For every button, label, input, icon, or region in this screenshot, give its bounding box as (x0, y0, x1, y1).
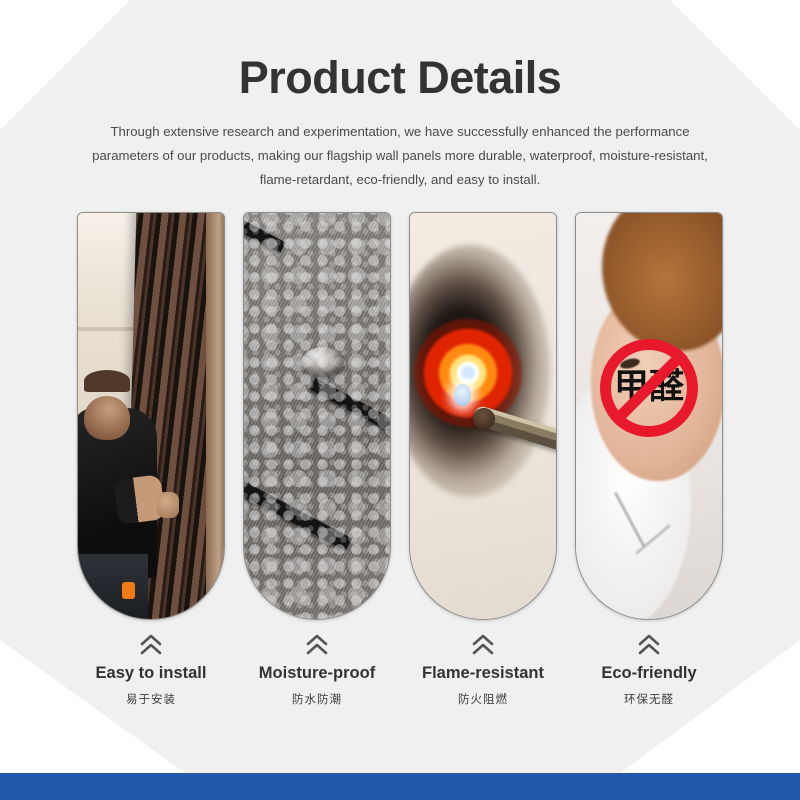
feature-image-easy-to-install (77, 212, 225, 620)
no-formaldehyde-icon: 甲醛 (600, 339, 698, 437)
page-header: Product Details Through extensive resear… (0, 0, 800, 192)
feature-label-cn: 防火阻燃 (409, 691, 557, 707)
chevron-double-up-icon (470, 634, 496, 656)
feature-image-flame-resistant (409, 212, 557, 620)
feature-item-easy-to-install[interactable]: Easy to install 易于安装 (77, 212, 225, 707)
chevron-double-up-icon (304, 634, 330, 656)
bottom-accent-band (0, 773, 800, 800)
feature-label-en: Eco-friendly (575, 664, 723, 683)
chevron-double-up-icon (636, 634, 662, 656)
feature-label-en: Moisture-proof (243, 664, 391, 683)
feature-label-en: Flame-resistant (409, 664, 557, 683)
intro-paragraph: Through extensive research and experimen… (90, 120, 710, 192)
chevron-double-up-icon (138, 634, 164, 656)
page-title: Product Details (0, 52, 800, 104)
feature-image-moisture-proof (243, 212, 391, 620)
feature-label-cn: 防水防潮 (243, 691, 391, 707)
feature-item-eco-friendly[interactable]: 甲醛 Eco-friendly 环保无醛 (575, 212, 723, 707)
feature-label-en: Easy to install (77, 664, 225, 683)
product-details-page: Product Details Through extensive resear… (0, 0, 800, 800)
feature-list: Easy to install 易于安装 Moisture-proof (0, 212, 800, 707)
feature-label-cn: 环保无醛 (575, 691, 723, 707)
feature-label-cn: 易于安装 (77, 691, 225, 707)
feature-item-flame-resistant[interactable]: Flame-resistant 防火阻燃 (409, 212, 557, 707)
feature-image-eco-friendly: 甲醛 (575, 212, 723, 620)
feature-item-moisture-proof[interactable]: Moisture-proof 防水防潮 (243, 212, 391, 707)
